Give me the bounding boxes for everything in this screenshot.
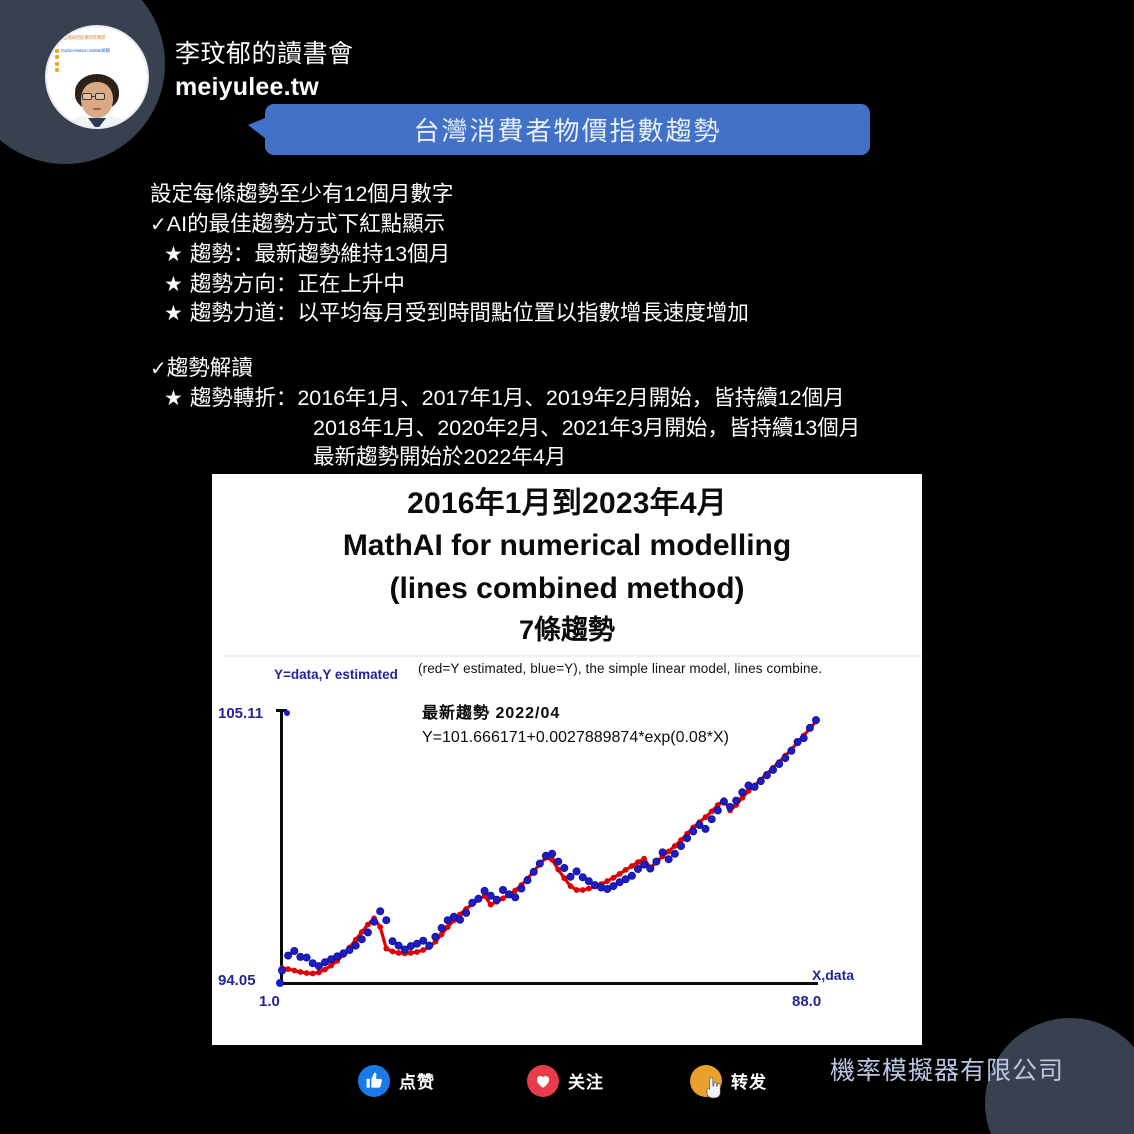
avatar-line-0: 成績自我研究結果的年資訊: [55, 35, 105, 40]
star-icon: ★: [164, 302, 183, 325]
like-label: 点赞: [399, 1068, 435, 1093]
text-line: ★趨勢力道：以平均每月受到時間點位置以指數增長速度增加: [150, 299, 1010, 329]
text-line: 2018年1月、2020年2月、2021年3月開始，皆持續13個月: [150, 414, 1010, 444]
chart-series-svg: [212, 657, 922, 1042]
follow-button[interactable]: 关注: [527, 1065, 604, 1097]
check-icon: ✓: [150, 214, 167, 236]
share-label: 转发: [731, 1068, 767, 1093]
text-line: ★趨勢方向：正在上升中: [150, 270, 1010, 300]
share-hand-icon: [690, 1065, 722, 1097]
share-button[interactable]: 转发: [690, 1065, 767, 1097]
avatar-text-lines: 成績自我研究結果的年資訊 大數據分析法 Durbin-Watson statis…: [55, 35, 141, 74]
chart-title-line-2: MathAI for numerical modelling: [212, 524, 922, 567]
chart-plot-area: (red=Y estimated, blue=Y), the simple li…: [212, 657, 922, 1042]
body-text: 設定每條趨勢至少有12個月數字 ✓AI的最佳趨勢方式下紅點顯示 ★趨勢：最新趨勢…: [150, 180, 1010, 473]
social-bar: 点赞 关注 转发: [0, 1053, 922, 1108]
like-button[interactable]: 点赞: [358, 1065, 435, 1097]
page-root: 成績自我研究結果的年資訊 大數據分析法 Durbin-Watson statis…: [0, 0, 1134, 1134]
account-website[interactable]: meiyulee.tw: [175, 71, 319, 104]
text-line: ★趨勢轉折：2016年1月、2017年1月、2019年2月開始，皆持續12個月: [150, 384, 1010, 414]
avatar[interactable]: 成績自我研究結果的年資訊 大數據分析法 Durbin-Watson statis…: [45, 25, 149, 129]
account-name: 李玟郁的讀書會: [175, 38, 354, 71]
text-line: ✓趨勢解讀: [150, 354, 1010, 385]
chart-title-line-1: 2016年1月到2023年4月: [212, 484, 922, 524]
title-bubble: 台灣消費者物價指數趨勢: [265, 104, 870, 155]
avatar-bullet-dot: [55, 68, 59, 72]
star-icon: ★: [164, 243, 183, 266]
star-icon: ★: [164, 387, 183, 410]
star-icon: ★: [164, 273, 183, 296]
avatar-bullet-dot: [55, 55, 59, 59]
text-line: 設定每條趨勢至少有12個月數字: [150, 180, 1010, 210]
chart-title-line-3: (lines combined method): [212, 567, 922, 610]
avatar-bullet-dot: [55, 49, 59, 53]
company-name: 機率模擬器有限公司: [830, 1051, 1064, 1087]
heart-icon: [527, 1065, 559, 1097]
avatar-line-1: 大數據分析法: [61, 42, 86, 47]
avatar-line-2: Durbin-Watson statistic檢驗: [61, 48, 110, 53]
check-icon: ✓: [150, 358, 167, 380]
avatar-photo-face: [69, 74, 125, 129]
avatar-line-5: 數據處理: [61, 68, 78, 73]
follow-label: 关注: [568, 1068, 604, 1093]
page-title: 台灣消費者物價指數趨勢: [413, 111, 721, 148]
avatar-line-4: 理率研究: [61, 61, 78, 66]
thumbs-up-icon: [358, 1065, 390, 1097]
text-line: 最新趨勢開始於2022年4月: [150, 443, 1010, 473]
chart-panel: 2016年1月到2023年4月 MathAI for numerical mod…: [212, 474, 922, 1045]
avatar-bullet-dot: [55, 62, 59, 66]
text-line: ★趨勢：最新趨勢維持13個月: [150, 240, 1010, 270]
avatar-bullet-dot: [55, 42, 59, 46]
text-line: ✓AI的最佳趨勢方式下紅點顯示: [150, 210, 1010, 241]
chart-title-line-4: 7條趨勢: [212, 610, 922, 650]
avatar-line-3: 數據的樣態/特型/+/轉換: [61, 55, 104, 60]
